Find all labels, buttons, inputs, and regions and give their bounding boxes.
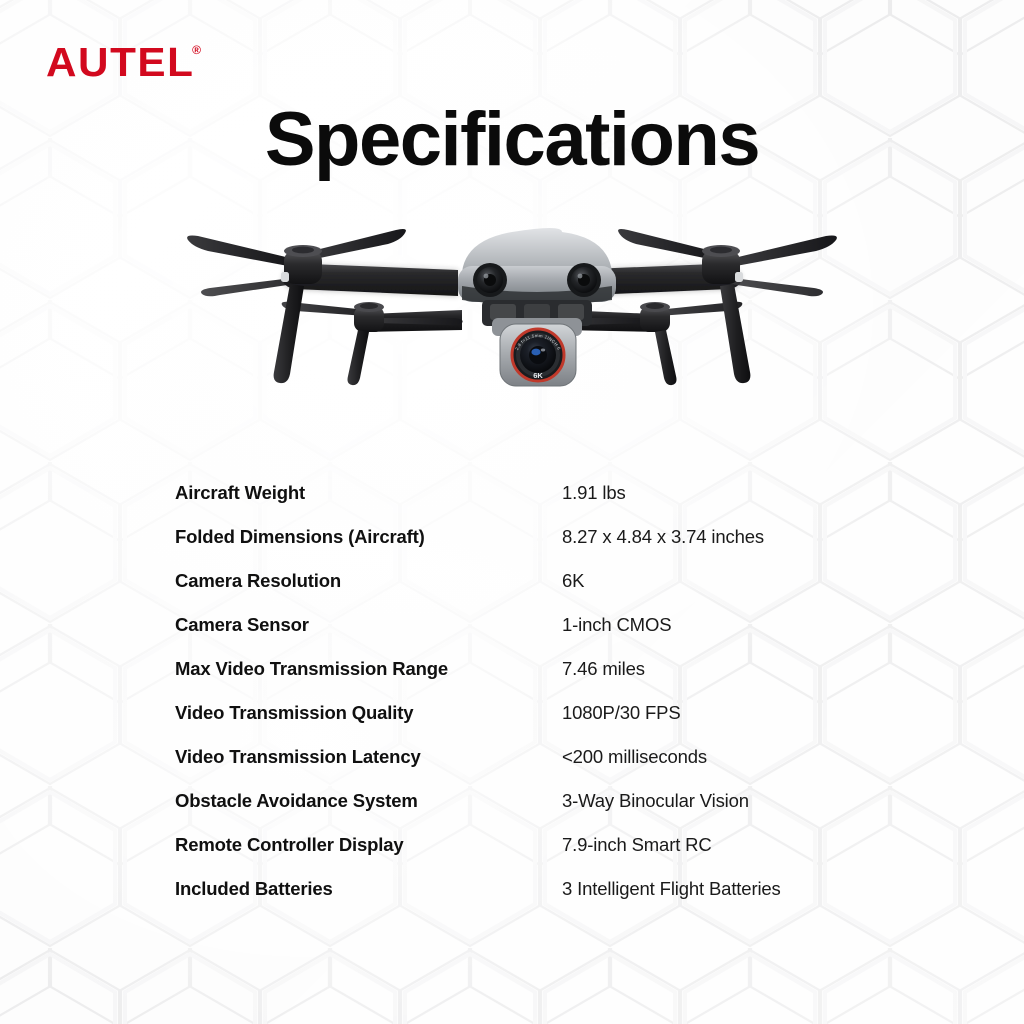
spec-label: Camera Sensor: [175, 614, 562, 636]
spec-value: <200 milliseconds: [562, 746, 875, 768]
spec-label: Video Transmission Latency: [175, 746, 562, 768]
spec-label: Remote Controller Display: [175, 834, 562, 856]
spec-label: Included Batteries: [175, 878, 562, 900]
drone-motor-front-left: [281, 245, 322, 284]
drone-leg-rear-right: [655, 330, 677, 385]
spec-value: 6K: [562, 570, 875, 592]
drone-binocular-sensor-left: [473, 263, 507, 297]
autel-logo-wordmark: AUTEL: [46, 42, 194, 83]
drone-binocular-sensor-right: [567, 263, 601, 297]
table-row: Video Transmission Quality 1080P/30 FPS: [175, 702, 875, 746]
specifications-page: AUTEL ® Specifications: [0, 0, 1024, 1024]
spec-value: 8.27 x 4.84 x 3.74 inches: [562, 526, 875, 548]
spec-label: Folded Dimensions (Aircraft): [175, 526, 562, 548]
spec-value: 1.91 lbs: [562, 482, 875, 504]
table-row: Obstacle Avoidance System 3-Way Binocula…: [175, 790, 875, 834]
spec-value: 3-Way Binocular Vision: [562, 790, 875, 812]
table-row: Included Batteries 3 Intelligent Flight …: [175, 878, 875, 922]
camera-6k-label: 6K: [533, 371, 543, 380]
spec-label: Max Video Transmission Range: [175, 658, 562, 680]
drone-illustration: F2.8 f=11.5mm 1INCH 6K 6K: [162, 206, 862, 406]
table-row: Folded Dimensions (Aircraft) 8.27 x 4.84…: [175, 526, 875, 570]
spec-value: 3 Intelligent Flight Batteries: [562, 878, 875, 900]
page-title: Specifications: [0, 96, 1024, 183]
spec-value: 7.46 miles: [562, 658, 875, 680]
spec-label: Aircraft Weight: [175, 482, 562, 504]
table-row: Max Video Transmission Range 7.46 miles: [175, 658, 875, 702]
drone-motor-rear-left: [354, 302, 384, 332]
spec-value: 1-inch CMOS: [562, 614, 875, 636]
specifications-table: Aircraft Weight 1.91 lbs Folded Dimensio…: [175, 482, 875, 922]
table-row: Camera Sensor 1-inch CMOS: [175, 614, 875, 658]
table-row: Aircraft Weight 1.91 lbs: [175, 482, 875, 526]
spec-label: Obstacle Avoidance System: [175, 790, 562, 812]
table-row: Remote Controller Display 7.9-inch Smart…: [175, 834, 875, 878]
drone-leg-front-left: [274, 284, 304, 383]
spec-label: Camera Resolution: [175, 570, 562, 592]
drone-leg-rear-left: [348, 330, 370, 385]
spec-value: 1080P/30 FPS: [562, 702, 875, 724]
autel-logo: AUTEL ®: [46, 42, 201, 83]
table-row: Camera Resolution 6K: [175, 570, 875, 614]
spec-value: 7.9-inch Smart RC: [562, 834, 875, 856]
drone-fuselage: [458, 228, 616, 326]
drone-motor-rear-right: [640, 302, 670, 332]
drone-motor-front-right: [702, 245, 743, 284]
drone-leg-front-right: [720, 284, 750, 383]
drone-product-image: F2.8 f=11.5mm 1INCH 6K 6K: [0, 196, 1024, 416]
spec-label: Video Transmission Quality: [175, 702, 562, 724]
table-row: Video Transmission Latency <200 millisec…: [175, 746, 875, 790]
